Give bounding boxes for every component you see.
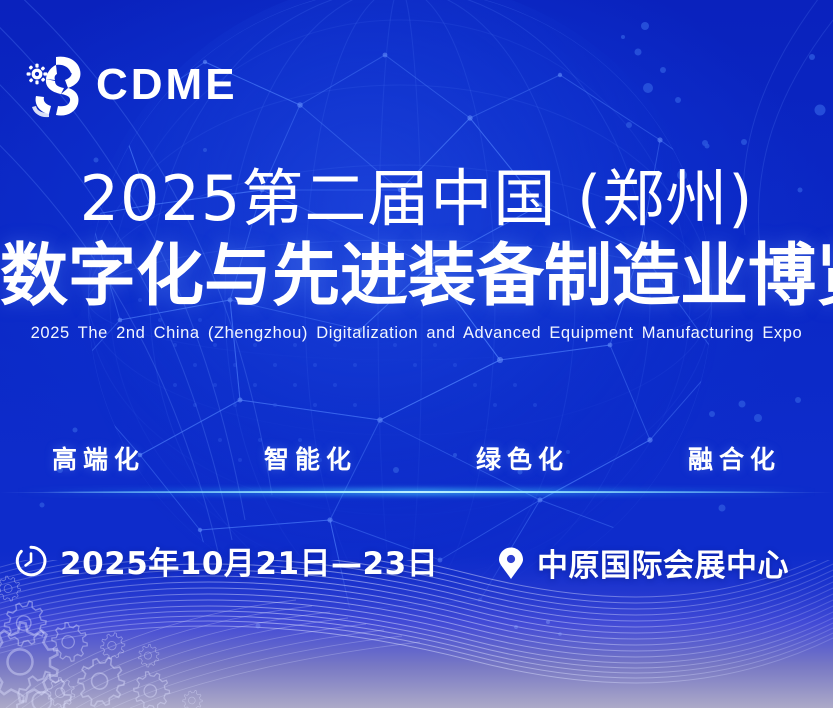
cdme-s-gear-monogram-icon [22, 52, 84, 118]
event-date-item: 2025年10月21日—23日 [14, 538, 438, 583]
brand-name: CDME [96, 63, 238, 107]
event-venue-item: 中原国际会展中心 [497, 540, 789, 585]
keyword-zhinenghua: 智能化 [264, 440, 357, 476]
title-block: 2025第二届中国 (郑州) 数字化与先进装备制造业博览会 2025 The 2… [0, 166, 833, 343]
keyword-gaoduanhua: 高端化 [52, 440, 145, 476]
expo-banner: CDME 2025第二届中国 (郑州) 数字化与先进装备制造业博览会 2025 … [0, 0, 833, 708]
title-chinese-line-1: 2025第二届中国 (郑州) [0, 166, 833, 233]
keyword-ronghehua: 融合化 [688, 440, 781, 476]
glowing-divider [0, 488, 833, 496]
clock-icon [14, 544, 48, 578]
keyword-lvsehua: 绿色化 [476, 440, 569, 476]
location-pin-icon [497, 546, 525, 580]
keyword-row: 高端化 智能化 绿色化 融合化 [52, 440, 781, 476]
event-venue-text: 中原国际会展中心 [537, 540, 789, 585]
footer-info: 2025年10月21日—23日 中原国际会展中心 [0, 538, 833, 594]
title-chinese-line-2: 数字化与先进装备制造业博览会 [0, 239, 833, 315]
brand-logo[interactable]: CDME [22, 52, 238, 118]
divider-core [42, 491, 792, 493]
event-date-text: 2025年10月21日—23日 [60, 538, 438, 583]
title-english: 2025 The 2nd China (Zhengzhou) Digitaliz… [0, 324, 833, 343]
